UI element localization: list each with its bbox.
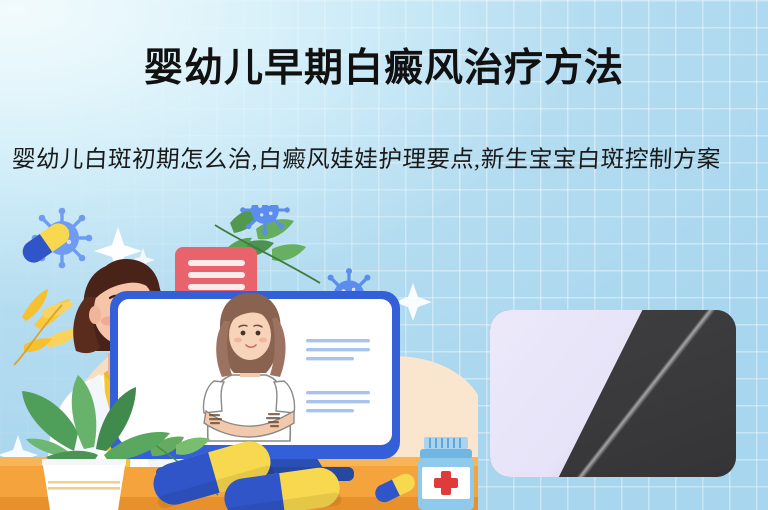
skin-closeup-photo-card	[490, 310, 736, 477]
doctor-illustration	[0, 205, 478, 510]
page-title: 婴幼儿早期白癜风治疗方法	[0, 48, 768, 91]
yellow-leaf-sprig	[14, 289, 82, 365]
medicine-bottle-icon	[418, 437, 474, 510]
poster-canvas: 婴幼儿早期白癜风治疗方法 婴幼儿白斑初期怎么治,白癜风娃娃护理要点,新生宝宝白斑…	[0, 0, 768, 510]
page-subtitle: 婴幼儿白斑初期怎么治,白癜风娃娃护理要点,新生宝宝白斑控制方案	[11, 144, 757, 176]
photo-diagonal-edge	[490, 310, 736, 477]
